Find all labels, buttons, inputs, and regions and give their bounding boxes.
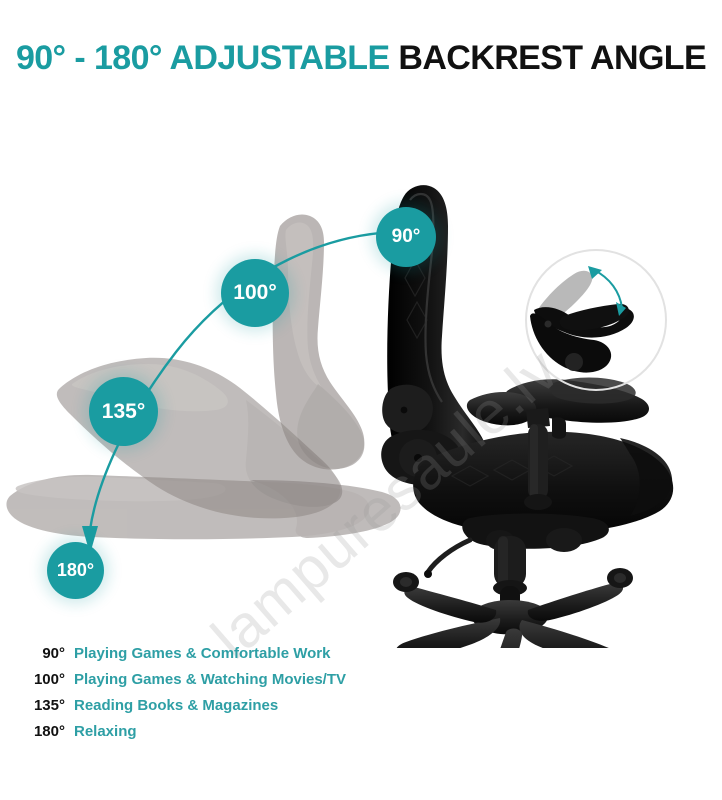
legend-row: 135° Reading Books & Magazines (0, 697, 400, 723)
title-accent-text: 90° - 180° ADJUSTABLE (16, 39, 390, 77)
angle-badge-180[interactable]: 180° (47, 542, 104, 599)
legend-description: Relaxing (74, 723, 137, 740)
chair-illustration: 90° 100° 135° 180° lam (0, 88, 722, 648)
ghost-chair-100 (273, 214, 365, 469)
page-title: 90° - 180° ADJUSTABLE BACKREST ANGLE (0, 38, 722, 78)
infographic-page: 90° - 180° ADJUSTABLE BACKREST ANGLE (0, 0, 722, 800)
angle-badge-100[interactable]: 100° (221, 259, 289, 327)
angle-legend: 90° Playing Games & Comfortable Work 100… (0, 645, 400, 749)
recline-mechanism-inset (522, 246, 670, 396)
recline-mechanism-svg (522, 246, 670, 396)
angle-badge-135[interactable]: 135° (89, 377, 158, 446)
legend-row: 100° Playing Games & Watching Movies/TV (0, 671, 400, 697)
title-dark-text: BACKREST ANGLE (390, 39, 707, 77)
legend-row: 180° Relaxing (0, 723, 400, 749)
legend-row: 90° Playing Games & Comfortable Work (0, 645, 400, 671)
legend-degree: 135° (0, 697, 74, 714)
legend-degree: 90° (0, 645, 74, 662)
legend-degree: 100° (0, 671, 74, 688)
legend-description: Playing Games & Comfortable Work (74, 645, 330, 662)
legend-description: Reading Books & Magazines (74, 697, 278, 714)
legend-degree: 180° (0, 723, 74, 740)
angle-badge-90[interactable]: 90° (376, 207, 436, 267)
legend-description: Playing Games & Watching Movies/TV (74, 671, 346, 688)
